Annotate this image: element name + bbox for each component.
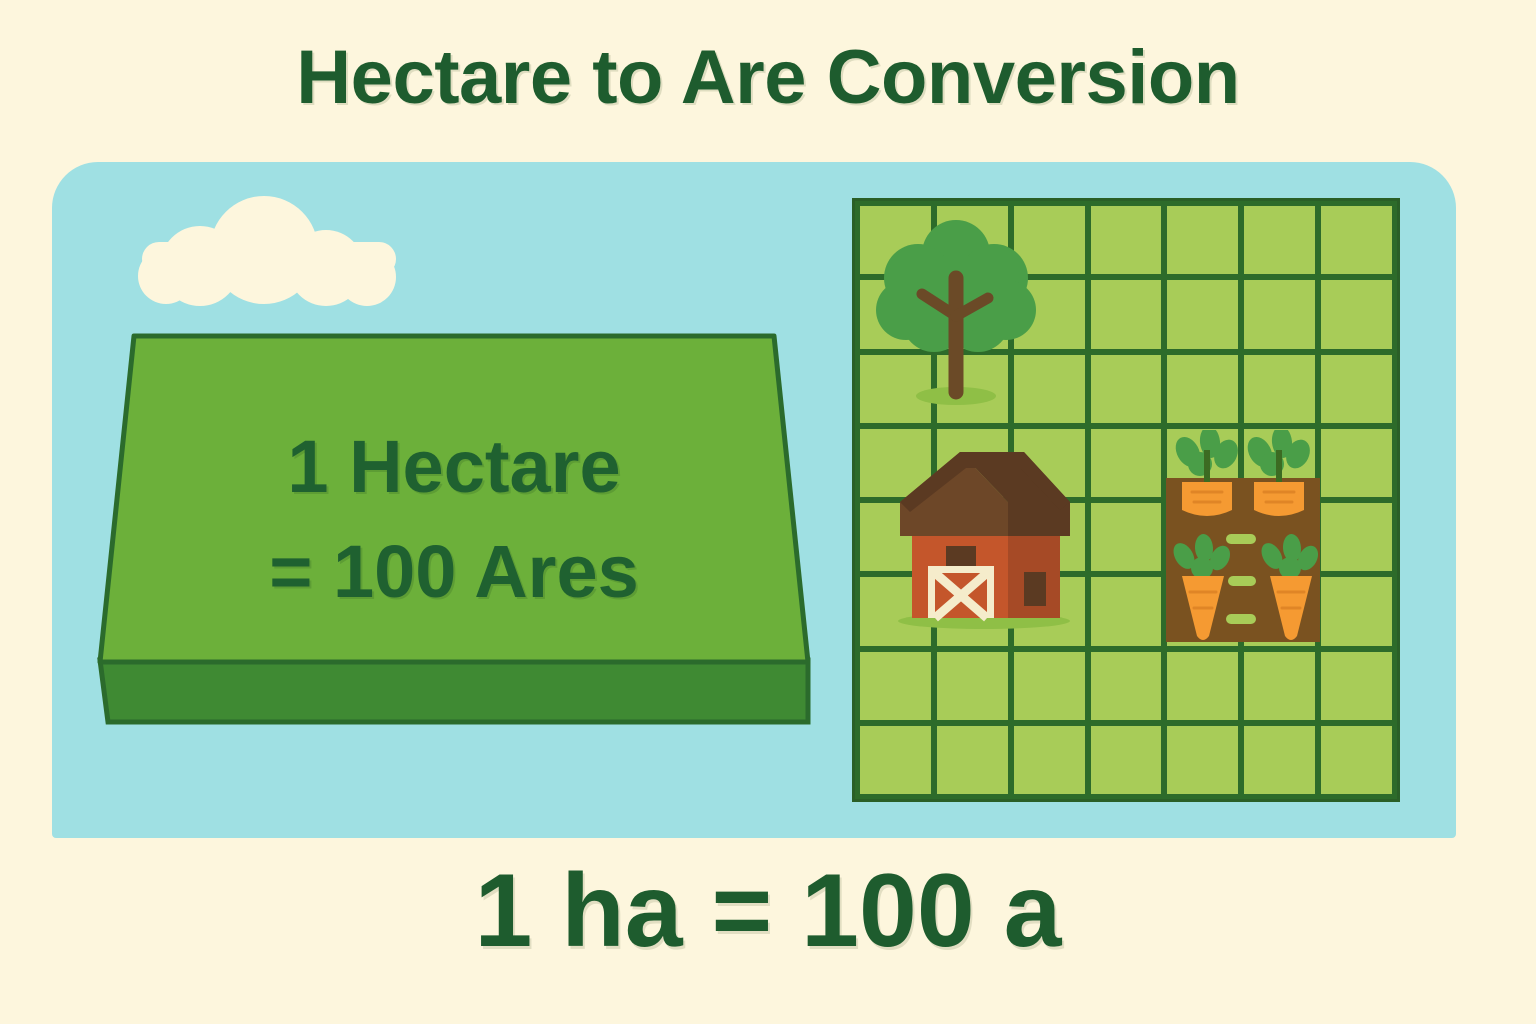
barn-door (928, 566, 994, 618)
are-cell (1321, 577, 1392, 645)
are-cell (1091, 429, 1162, 497)
are-cell (1321, 503, 1392, 571)
page-title: Hectare to Are Conversion (0, 38, 1536, 118)
are-cell (1244, 206, 1315, 274)
barn-window-side (1024, 572, 1046, 606)
are-cell (937, 726, 1008, 794)
are-cell (1167, 355, 1238, 423)
barn-icon (884, 440, 1088, 630)
are-cell (1091, 280, 1162, 348)
conversion-formula: 1 ha = 100 a (0, 852, 1536, 971)
are-cell (1091, 206, 1162, 274)
are-cell (1014, 726, 1085, 794)
are-cell (1321, 280, 1392, 348)
are-cell (1091, 652, 1162, 720)
are-cell (1167, 726, 1238, 794)
are-cell (1321, 355, 1392, 423)
are-cell (1091, 577, 1162, 645)
are-cell (1244, 652, 1315, 720)
slab-top-face (100, 336, 808, 662)
are-cell (1091, 503, 1162, 571)
carrot-patch-icon (1166, 430, 1320, 642)
are-cell (1321, 652, 1392, 720)
slab-side-face (100, 660, 808, 722)
are-cell (1091, 726, 1162, 794)
are-cell (1321, 206, 1392, 274)
are-cell (1321, 726, 1392, 794)
are-cell (860, 726, 931, 794)
are-cell (937, 652, 1008, 720)
are-cell (1244, 280, 1315, 348)
tree-icon (876, 212, 1036, 408)
are-cell (1091, 355, 1162, 423)
are-cell (1014, 652, 1085, 720)
are-cell (1244, 726, 1315, 794)
are-cell (860, 652, 931, 720)
are-cell (1167, 206, 1238, 274)
are-cell (1167, 652, 1238, 720)
are-cell (1167, 280, 1238, 348)
are-cell (1321, 429, 1392, 497)
hectare-slab (92, 330, 816, 782)
cloud-icon (138, 196, 400, 282)
are-cell (1244, 355, 1315, 423)
